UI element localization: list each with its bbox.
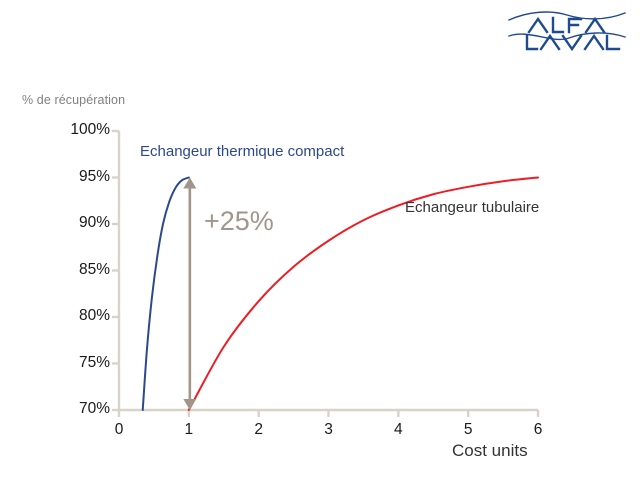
- chart-page: % de récupération 70%75%80%85%90%95%100%…: [0, 0, 640, 500]
- series-line-compact: [143, 178, 189, 411]
- gain-annotation-label: +25%: [204, 206, 274, 237]
- y-tick-label: 85%: [58, 261, 110, 279]
- x-tick-label: 2: [244, 421, 274, 439]
- series-label-compact: Echangeur thermique compact: [140, 143, 344, 160]
- x-tick-label: 5: [453, 421, 483, 439]
- y-tick-label: 80%: [58, 307, 110, 325]
- y-tick-label: 75%: [58, 354, 110, 372]
- x-tick-label: 3: [314, 421, 344, 439]
- y-tick-label: 95%: [58, 168, 110, 186]
- series-label-tubular: Echangeur tubulaire: [405, 199, 539, 216]
- gain-arrow-annotation: [183, 178, 196, 411]
- x-axis-title: Cost units: [452, 441, 528, 461]
- x-tick-label: 0: [104, 421, 134, 439]
- y-tick-label: 70%: [58, 400, 110, 418]
- x-tick-label: 1: [174, 421, 204, 439]
- y-tick-label: 100%: [58, 121, 110, 139]
- x-tick-label: 6: [523, 421, 553, 439]
- x-tick-label: 4: [383, 421, 413, 439]
- axis-lines: [119, 131, 538, 410]
- y-tick-label: 90%: [58, 214, 110, 232]
